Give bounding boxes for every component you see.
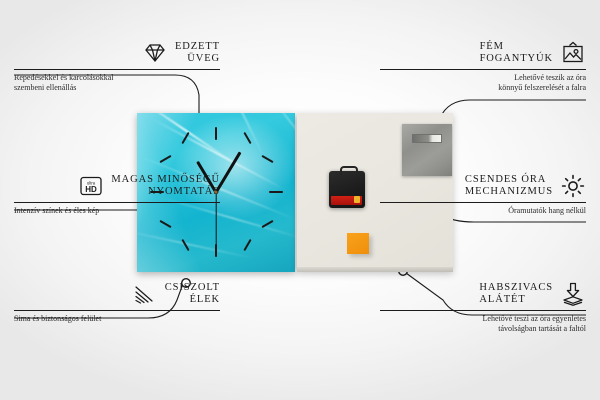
hanger-slot — [412, 134, 442, 143]
feature-title: CSENDES ÓRA MECHANIZMUS — [465, 174, 553, 199]
feature-title: MAGAS MINŐSÉGŰ NYOMTATÁS — [111, 174, 220, 199]
feature-csendes-ora-mechanizmus: CSENDES ÓRA MECHANIZMUS Óramutatók hang … — [380, 173, 586, 216]
feature-description: Lehetővé teszi az óra egyenletes távolsá… — [380, 314, 586, 333]
clock-tick-8 — [159, 220, 171, 228]
feature-description: Sima és biztonságos felület — [14, 314, 220, 324]
feature-habszivacs-alatet: HABSZIVACS ALÁTÉT Lehetővé teszi az óra … — [380, 281, 586, 333]
diamond-icon — [142, 40, 168, 66]
polished-edges-icon — [132, 281, 158, 307]
feature-edzett-uveg: EDZETT ÜVEG Repedésekkel és karcolásokka… — [14, 40, 220, 92]
clock-tick-2 — [261, 155, 273, 163]
feature-description: Óramutatók hang nélkül — [380, 206, 586, 216]
divider — [380, 202, 586, 203]
feature-title: FÉM FOGANTYÚK — [480, 41, 553, 66]
divider — [14, 310, 220, 311]
clock-tick-10 — [159, 155, 171, 163]
feature-description: Repedésekkel és karcolásokkal szembeni e… — [14, 73, 220, 92]
clock-tick-12 — [215, 127, 217, 140]
ultra-hd-icon: ultra HD — [78, 173, 104, 199]
divider — [14, 202, 220, 203]
feature-description: Intenzív színek és éles kép — [14, 206, 220, 216]
feature-title: CSISZOLT ÉLEK — [165, 282, 220, 307]
connector-fem-fogantyuk — [434, 100, 586, 124]
divider — [380, 310, 586, 311]
mechanism-hook — [340, 166, 358, 175]
gear-icon — [560, 173, 586, 199]
divider — [14, 69, 220, 70]
clock-tick-1 — [243, 132, 251, 144]
feature-description: Lehetővé teszik az óra könnyű felszerelé… — [380, 73, 586, 92]
feature-title: HABSZIVACS ALÁTÉT — [479, 282, 553, 307]
feature-title: EDZETT ÜVEG — [175, 41, 220, 66]
clock-tick-3 — [269, 191, 283, 193]
clock-mechanism — [329, 171, 365, 208]
clock-tick-5 — [243, 239, 251, 251]
metal-hanger-plate — [402, 124, 452, 176]
feature-magas-minosegu-nyomtatas: ultra HD MAGAS MINŐSÉGŰ NYOMTATÁS Intenz… — [14, 173, 220, 216]
feature-fem-fogantyuk: FÉM FOGANTYÚK Lehetővé teszik az óra kön… — [380, 40, 586, 92]
divider — [380, 69, 586, 70]
foam-spacer-pad — [347, 233, 369, 254]
picture-hanger-icon — [560, 40, 586, 66]
infographic-canvas: EDZETT ÜVEG Repedésekkel és karcolásokka… — [0, 0, 600, 400]
battery — [331, 196, 362, 205]
battery-terminal — [354, 196, 360, 203]
clock-tick-6 — [215, 244, 217, 257]
svg-text:HD: HD — [86, 185, 98, 194]
foam-pad-icon — [560, 281, 586, 307]
feature-csiszolt-elek: CSISZOLT ÉLEK Sima és biztonságos felüle… — [14, 281, 220, 324]
